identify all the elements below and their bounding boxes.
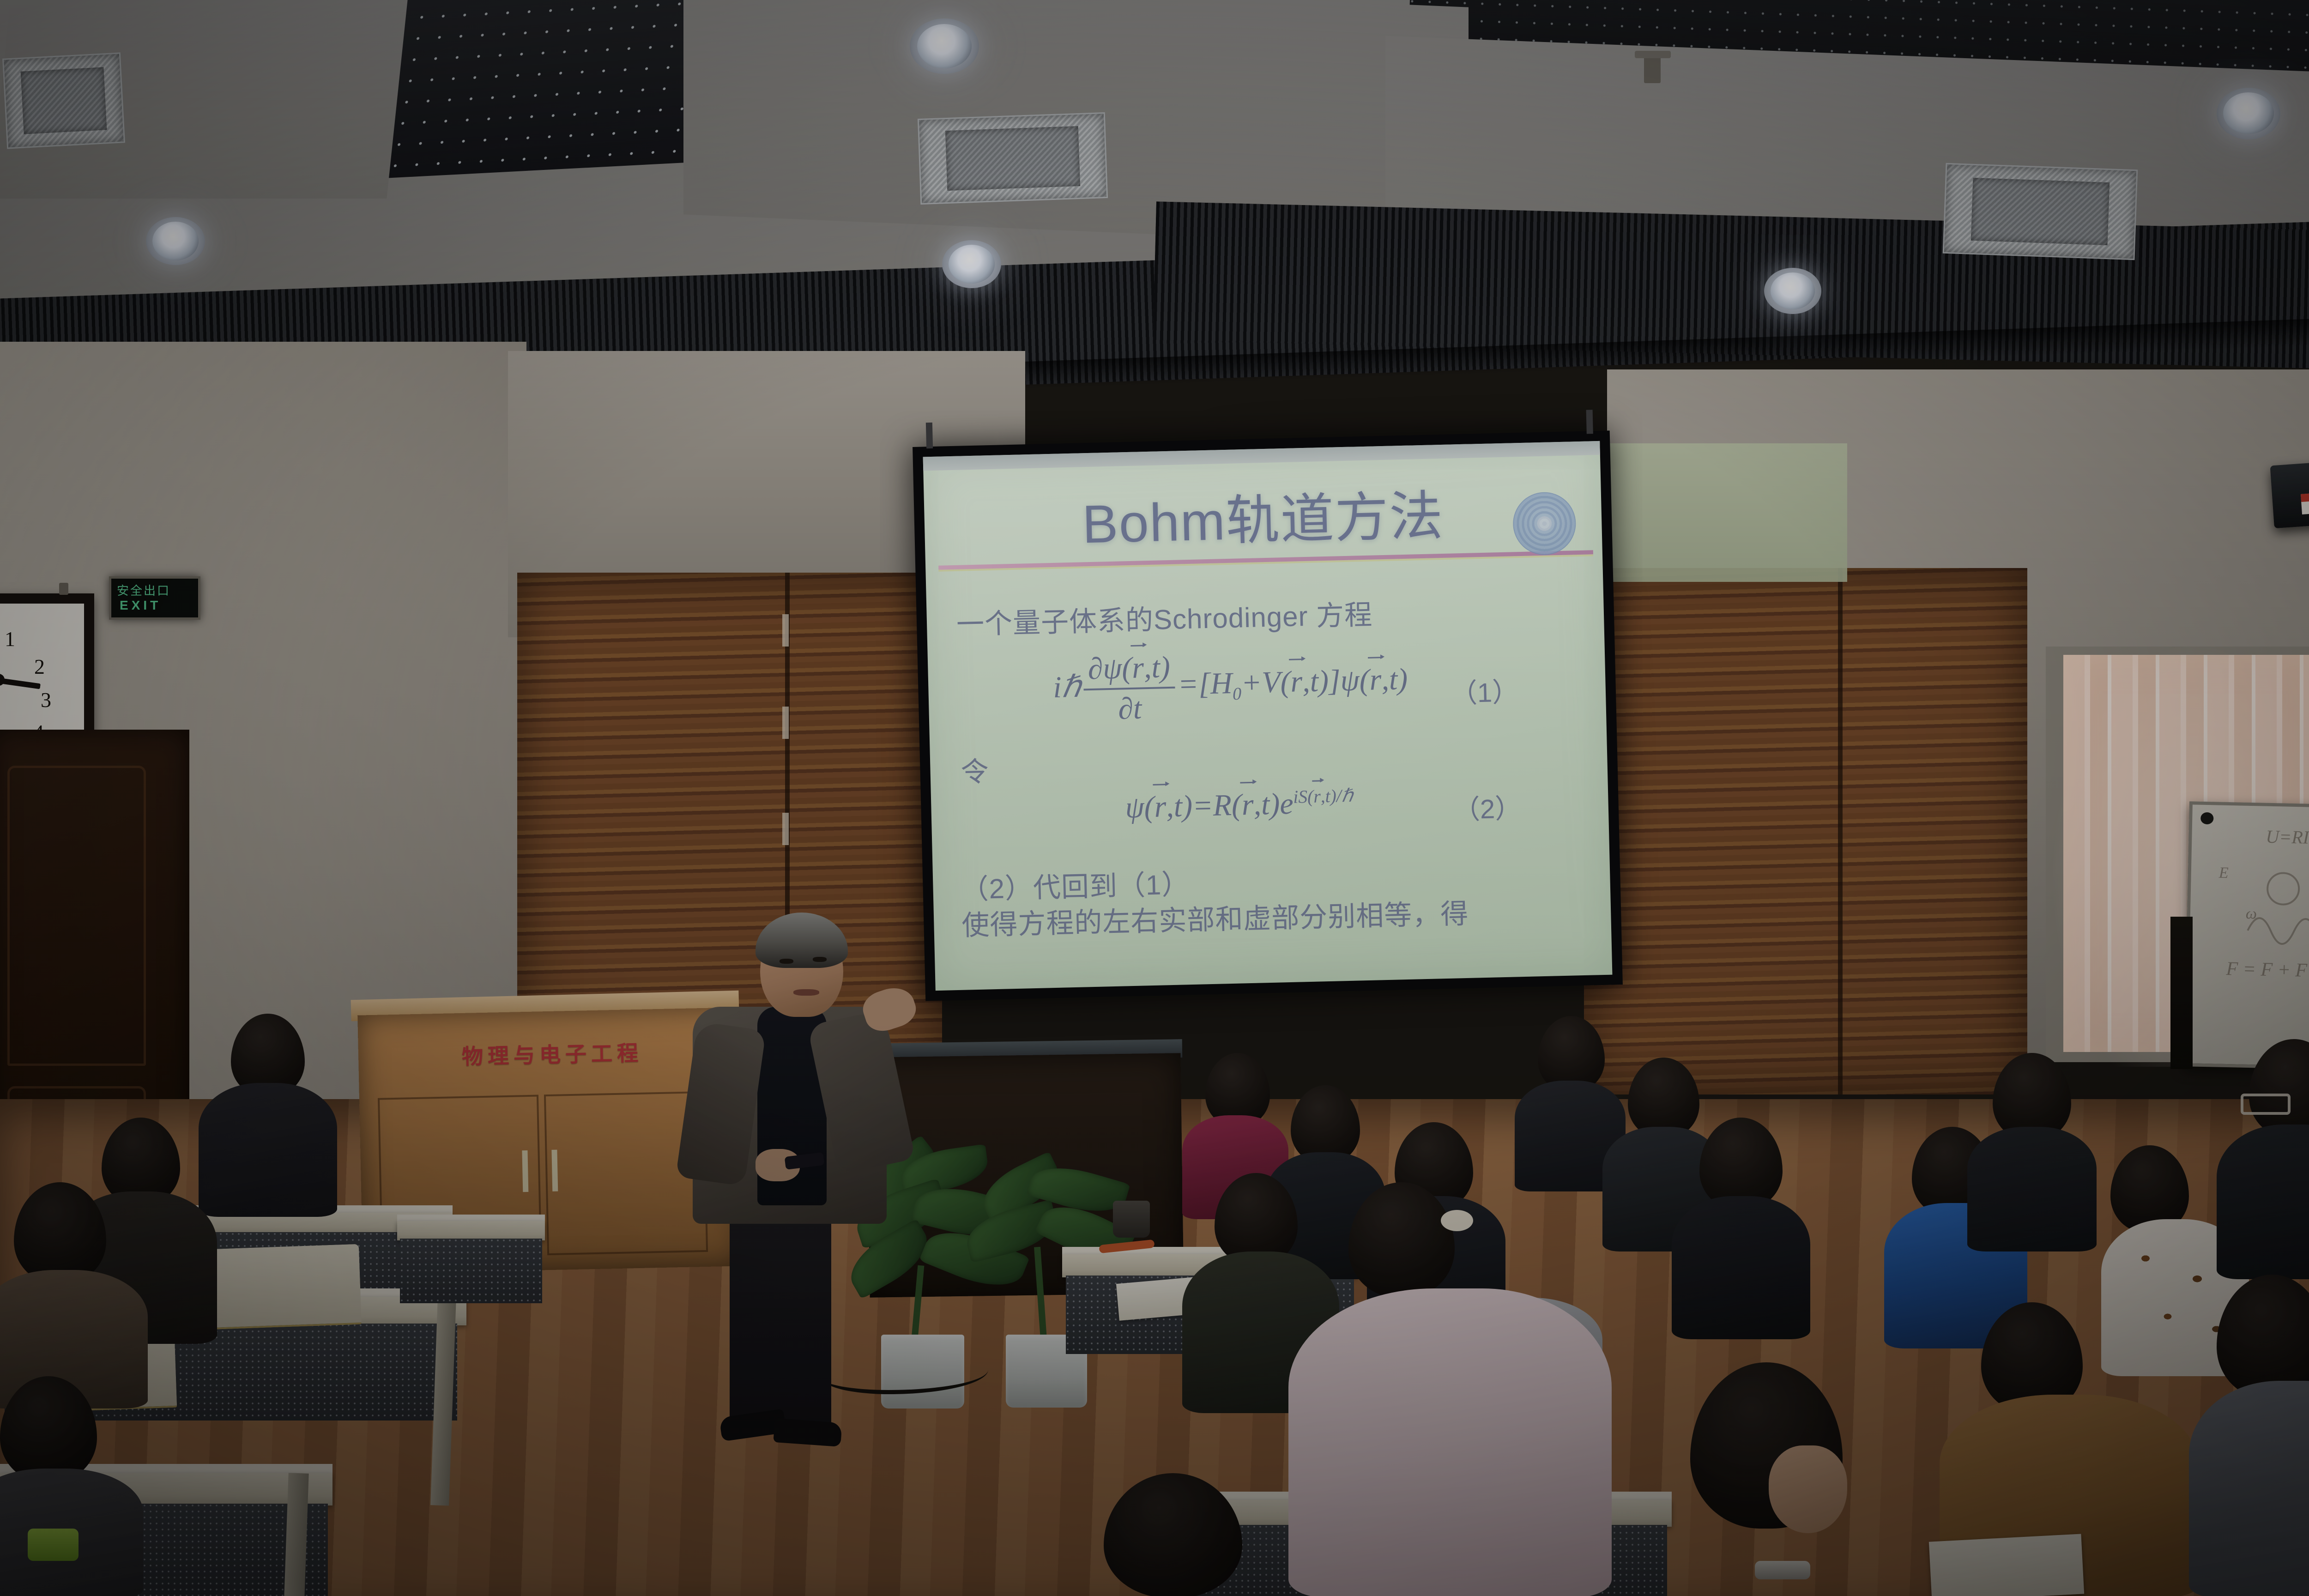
slat-wall-tab-2 [782, 707, 789, 739]
wall-green-strip [1589, 443, 1847, 582]
audience-member [2189, 1275, 2309, 1596]
whiteboard[interactable]: U=RI E ω F = F + F [2184, 801, 2309, 1071]
eq1-numerator: ∂ψ(r,t) [1083, 650, 1175, 687]
audience-member [0, 1376, 148, 1596]
slide-let-line: 令 [961, 749, 990, 790]
green-object-on-desk [28, 1529, 79, 1561]
audience-member-foreground [1053, 1473, 1293, 1596]
slide-equation-1: iℏ∂ψ(r,t)∂t=[H0+V(r,t)]ψ(r,t) [1052, 644, 1409, 728]
eq1-psi2-r-vector: r [1369, 662, 1382, 698]
ceiling-downlight-4 [1771, 272, 1815, 309]
eq2-equals: = [1192, 789, 1213, 823]
audience-member [0, 1182, 152, 1404]
desk-leg-left-2 [284, 1473, 308, 1596]
ceiling-downlight-1 [152, 222, 199, 260]
eq2-R: R( [1213, 788, 1242, 822]
eq1-equals: = [1178, 667, 1199, 701]
whiteboard-circle-sketch [2260, 865, 2309, 917]
notebook-pages [1929, 1534, 2084, 1596]
eq1-fraction-bar [1084, 687, 1175, 691]
lecturer-eye-right [813, 957, 827, 962]
slat-wall-seam-right [1838, 568, 1843, 1094]
lecturer-eye-left [780, 959, 793, 964]
cup-on-desk [1113, 1201, 1150, 1238]
eq1-denominator: ∂t [1084, 690, 1176, 728]
ceiling-projector [2270, 458, 2309, 528]
audience-member [199, 1014, 337, 1212]
audience-head [1348, 1182, 1455, 1298]
audience-member-pink-jacket [1288, 1182, 1649, 1596]
audience-torso [1672, 1196, 1810, 1339]
hair-tie [1441, 1210, 1473, 1231]
eq1-V-r-vector: r [1290, 664, 1303, 700]
eq2-comma-t: ,t) [1166, 789, 1193, 823]
eyeglasses-icon [2241, 1094, 2291, 1115]
seat-back-left-1 [193, 1244, 362, 1330]
desk-center-left [397, 1215, 545, 1307]
projection-screen: Bohm轨道方法 一个量子体系的Schrodinger 方程 iℏ∂ψ(r,t)… [913, 430, 1623, 1001]
exit-sign-english-label: EXIT [120, 598, 161, 613]
whiteboard-magnet[interactable] [2200, 812, 2214, 825]
clock-numeral-1: 1 [5, 627, 15, 651]
eq1-psi-open: ψ( [1102, 651, 1132, 685]
slide-equation-2: ψ(r,t)=R(r,t)eiS(r,t)/ℏ [1125, 785, 1354, 826]
eq1-psi2: ψ( [1340, 663, 1370, 697]
eq1-i: i [1053, 671, 1062, 704]
podium-department-text: 物理与电子工程 [461, 1036, 643, 1070]
eq1-V-open: ( [1280, 665, 1291, 699]
ceiling-air-diffuser-right [1943, 163, 2138, 260]
eq2-R-r-vector: r [1241, 787, 1254, 823]
slat-wall-tab-1 [782, 614, 789, 647]
sprinkler-head [1644, 55, 1661, 83]
audience-member [1967, 1053, 2097, 1251]
slide-equation-2-number: （2） [1453, 786, 1522, 827]
slat-wall-tab-3 [782, 813, 789, 845]
podium-cabinet-handle-left[interactable] [522, 1150, 528, 1192]
exit-sign-chinese-label: 安全出口 [117, 581, 170, 598]
audience-torso [2217, 1124, 2309, 1279]
audience-torso [1967, 1127, 2097, 1251]
audience-head [2249, 1039, 2309, 1138]
clock-numeral-3: 3 [41, 688, 51, 712]
desk-front-panel [400, 1239, 542, 1303]
eq1-bracket-open: [ [1198, 667, 1210, 701]
eq1-r-vector: r [1131, 650, 1144, 686]
slide-top-hatch [923, 441, 1600, 471]
slide-title: Bohm轨道方法 [924, 485, 1602, 555]
eq2-r-vector: r [1154, 789, 1167, 825]
eq2-R-comma-t: ,t) [1253, 787, 1281, 821]
eq1-psi2-comma-t: ,t) [1381, 662, 1408, 696]
screen-roller-hook-right [1586, 410, 1593, 434]
eq2-e: e [1280, 787, 1294, 821]
ceiling-air-diffuser-left [2, 52, 125, 149]
lecturer-mouth [793, 989, 819, 996]
audience-head [14, 1182, 106, 1284]
door-upper-panel [7, 766, 146, 1066]
whiteboard-side-dark-panel [2170, 917, 2193, 1069]
eq1-comma-t: ,t) [1143, 650, 1171, 684]
wristwatch [1755, 1561, 1810, 1579]
sprinkler-plate [1635, 51, 1671, 58]
lecturer-legs [730, 1191, 831, 1432]
whiteboard-note-2: E [2218, 864, 2229, 882]
audience-face [1769, 1445, 1847, 1533]
eq1-hbar: ℏ [1061, 670, 1082, 704]
slide-equation-1-number: （1） [1450, 670, 1519, 710]
eq1-fraction: ∂ψ(r,t)∂t [1083, 650, 1176, 728]
lecture-hall-photo: U=RI E ω F = F + F 12 1 2 3 4 安全出口 EXIT [0, 0, 2309, 1596]
exit-sign: 安全出口 EXIT [109, 576, 200, 620]
eq1-V: V [1261, 665, 1281, 699]
screen-frame: Bohm轨道方法 一个量子体系的Schrodinger 方程 iℏ∂ψ(r,t)… [913, 430, 1623, 1001]
lecturer-hair [756, 913, 848, 968]
screen-roller-hook-left [926, 423, 933, 448]
wooden-slat-wall-right [1584, 568, 2027, 1094]
clock-hour-hand [0, 677, 41, 689]
ceiling-downlight-2 [917, 24, 972, 68]
ceiling-downlight-5 [2223, 92, 2274, 134]
clock-numeral-2: 2 [34, 654, 45, 679]
wall-clock: 12 1 2 3 4 [0, 593, 94, 752]
slide-title-divider [938, 550, 1593, 569]
presentation-slide: Bohm轨道方法 一个量子体系的Schrodinger 方程 iℏ∂ψ(r,t)… [923, 441, 1613, 991]
plant-stem [1034, 1247, 1047, 1339]
pink-jacket-torso [1288, 1288, 1612, 1596]
audience-head [0, 1376, 97, 1482]
eq2-exp-tail: ,t)/ℏ [1320, 786, 1353, 807]
eq1-plus: + [1241, 665, 1262, 700]
podium-cabinet-handle-right[interactable] [551, 1150, 558, 1191]
eq1-V-comma-t: ,t) [1302, 664, 1329, 698]
eq1-bracket-close: ] [1328, 664, 1341, 698]
lecturer-shoe-right [773, 1418, 842, 1447]
eq2-exp-r-vector: r [1313, 786, 1321, 807]
eq1-partial: ∂ [1088, 652, 1103, 686]
whiteboard-note-1: U=RI [2266, 826, 2309, 848]
eq2-exp-open: iS( [1293, 786, 1314, 807]
audience-member-foreground [1616, 1362, 1912, 1596]
eq1-H: H [1210, 666, 1233, 701]
whiteboard-note-4: F = F + F [2226, 958, 2308, 982]
audience-member-glasses [2217, 1039, 2309, 1279]
eq2-psi: ψ( [1125, 790, 1155, 824]
eq1-H-subscript: 0 [1233, 684, 1242, 704]
ceiling-air-diffuser-center [918, 112, 1108, 205]
ceiling-downlight-3 [949, 245, 995, 284]
audience-torso-gray [2189, 1381, 2309, 1596]
audience-member [1672, 1118, 1810, 1339]
eq2-exponent: iS(r,t)/ℏ [1293, 786, 1354, 807]
lecturer [670, 868, 928, 1469]
projector-label [2301, 492, 2309, 514]
clock-hook [59, 583, 68, 595]
audience-torso [199, 1083, 337, 1217]
slide-intro-line: 一个量子体系的Schrodinger 方程 [956, 592, 1373, 642]
desk-surface [397, 1221, 545, 1240]
audience-head [1104, 1473, 1242, 1596]
